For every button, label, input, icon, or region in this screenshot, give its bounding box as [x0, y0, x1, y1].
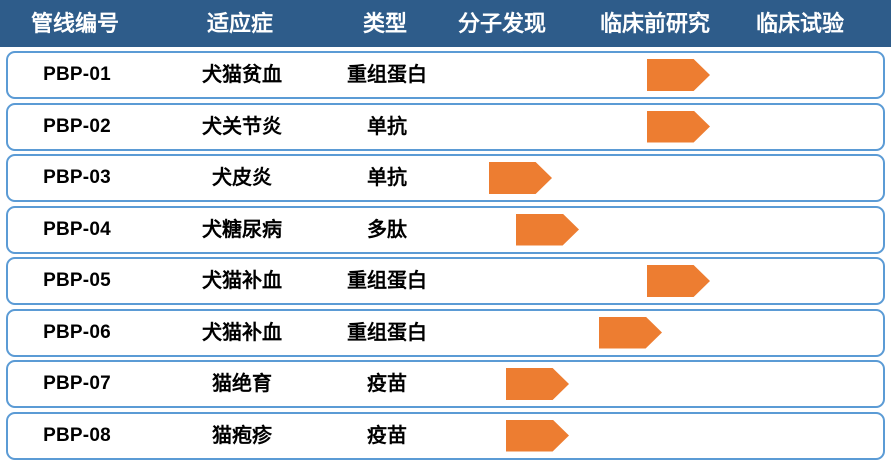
- stage-progress-arrow: [599, 317, 662, 349]
- pipeline-table: 管线编号适应症类型分子发现临床前研究临床试验 PBP-01犬猫贫血重组蛋白PBP…: [0, 0, 891, 464]
- cell-type: 重组蛋白: [292, 53, 482, 97]
- table-row[interactable]: PBP-01犬猫贫血重组蛋白: [6, 51, 885, 99]
- stage-progress-arrow: [506, 368, 569, 400]
- cell-type: 疫苗: [292, 414, 482, 458]
- table-row[interactable]: PBP-04犬糖尿病多肽: [6, 206, 885, 254]
- table-row[interactable]: PBP-06犬猫补血重组蛋白: [6, 309, 885, 357]
- cell-type: 重组蛋白: [292, 259, 482, 303]
- stage-progress-arrow: [647, 111, 710, 143]
- cell-type: 疫苗: [292, 362, 482, 406]
- stage-progress-arrow: [516, 214, 579, 246]
- table-row[interactable]: PBP-08猫疱疹疫苗: [6, 412, 885, 460]
- table-header: 管线编号适应症类型分子发现临床前研究临床试验: [0, 0, 891, 47]
- cell-type: 单抗: [292, 105, 482, 149]
- table-row[interactable]: PBP-02犬关节炎单抗: [6, 103, 885, 151]
- stage-progress-arrow: [647, 59, 710, 91]
- table-row[interactable]: PBP-03犬皮炎单抗: [6, 154, 885, 202]
- table-row[interactable]: PBP-07猫绝育疫苗: [6, 360, 885, 408]
- cell-type: 重组蛋白: [292, 311, 482, 355]
- cell-type: 单抗: [292, 156, 482, 200]
- stage-progress-arrow: [647, 265, 710, 297]
- column-header-clinical: 临床试验: [705, 0, 891, 47]
- stage-progress-arrow: [506, 420, 569, 452]
- table-row[interactable]: PBP-05犬猫补血重组蛋白: [6, 257, 885, 305]
- cell-type: 多肽: [292, 208, 482, 252]
- stage-progress-arrow: [489, 162, 552, 194]
